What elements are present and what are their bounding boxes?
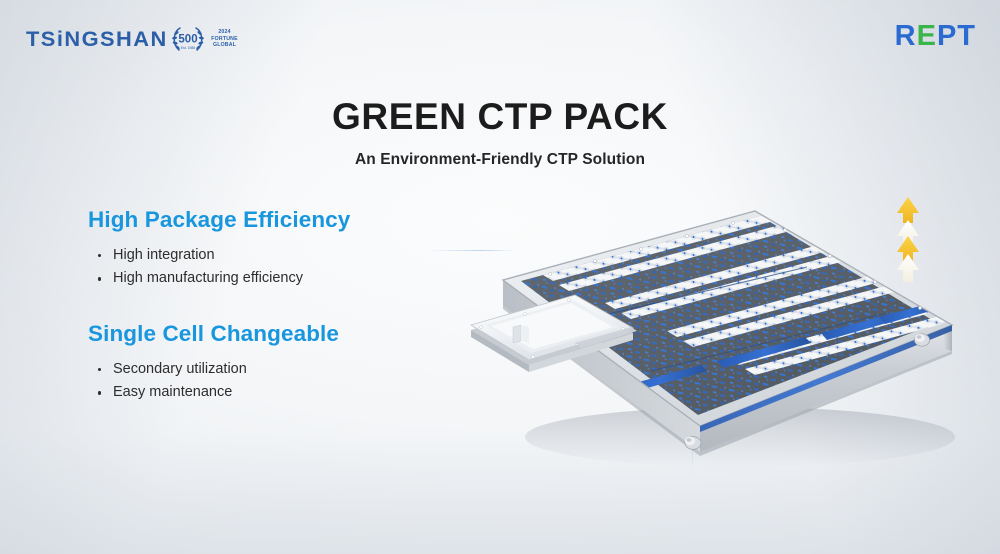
badge-number: 500: [179, 34, 198, 46]
page-title: GREEN CTP PACK: [0, 97, 1000, 137]
slide-root: TSiNGSHAN 500 Est. 1988: [0, 0, 1000, 554]
connector-port-right: [914, 334, 929, 346]
tsingshan-logo: TSiNGSHAN 500 Est. 1988: [26, 24, 238, 54]
badge-fortune: FORTUNE: [211, 36, 237, 42]
arrow-up-gold-top: [897, 197, 919, 223]
rept-letters-pt: PT: [937, 20, 976, 52]
list-item: Secondary utilization: [97, 358, 418, 381]
fortune-global-500-badge: 500 Est. 1988 2024 FORTUNE GLOBAL: [168, 24, 237, 54]
tsingshan-wordmark: TSiNGSHAN: [26, 29, 168, 50]
feature-block-single-cell-changeable: Single Cell Changeable Secondary utiliza…: [88, 320, 418, 405]
title-block: GREEN CTP PACK An Environment-Friendly C…: [0, 97, 1000, 169]
laurel-wreath-icon: 500 Est. 1988: [168, 24, 208, 54]
feature-heading: High Package Efficiency: [88, 206, 418, 233]
fortune-global-label: 2024 FORTUNE GLOBAL: [211, 29, 237, 50]
badge-global: GLOBAL: [213, 42, 236, 48]
list-item: Easy maintenance: [97, 381, 418, 404]
rept-letter-e: E: [917, 20, 937, 52]
list-item: High integration: [97, 244, 418, 267]
page-subtitle: An Environment-Friendly CTP Solution: [0, 151, 1000, 169]
feature-heading: Single Cell Changeable: [88, 320, 418, 347]
list-item: High manufacturing efficiency: [97, 267, 418, 290]
connector-port-front: [685, 437, 701, 450]
arrow-up-white-bottom: [897, 254, 919, 282]
feature-block-package-efficiency: High Package Efficiency High integration…: [88, 206, 418, 291]
rept-letter-r: R: [895, 20, 917, 52]
rept-logo: REPT: [895, 22, 976, 51]
feature-bullets: Secondary utilization Easy maintenance: [88, 358, 418, 405]
upward-arrows-icon: [888, 196, 928, 286]
badge-year: 2024: [218, 29, 230, 35]
feature-bullets: High integration High manufacturing effi…: [88, 244, 418, 291]
badge-since-text: Est. 1988: [181, 46, 195, 50]
feature-list: High Package Efficiency High integration…: [88, 206, 418, 405]
arrows-svg: [888, 196, 928, 286]
